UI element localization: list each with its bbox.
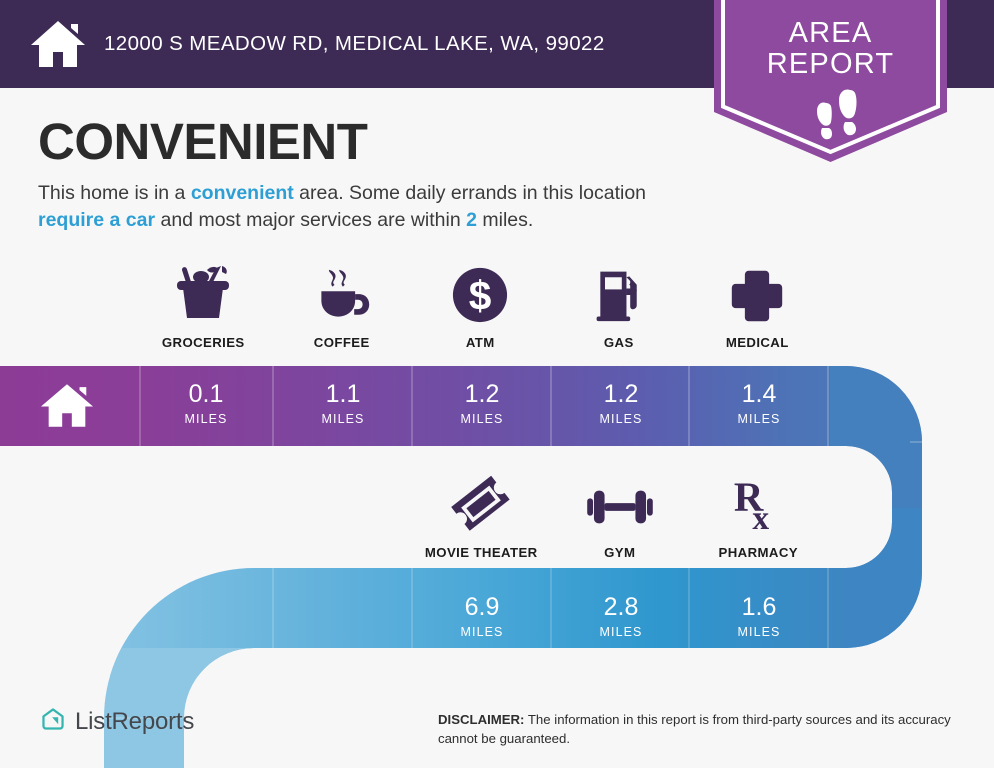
dumbbell-icon — [585, 472, 655, 534]
page-title: CONVENIENT — [38, 112, 367, 171]
svg-text:$: $ — [469, 273, 492, 319]
medical-cross-icon — [729, 262, 785, 324]
distance-value-groceries: 0.1 MILES — [138, 382, 274, 426]
category-gym: GYM — [551, 472, 690, 560]
listreports-house-tag-icon — [40, 706, 66, 737]
disclaimer: DISCLAIMER: The information in this repo… — [438, 711, 978, 748]
desc-text-1: This home is in a — [38, 182, 191, 204]
distance-value-atm: 1.2 MILES — [414, 382, 550, 426]
coffee-cup-icon — [312, 262, 372, 324]
listreports-wordmark: ListReports — [75, 708, 194, 736]
category-label: MEDICAL — [726, 335, 789, 350]
listreports-logo: ListReports — [40, 706, 194, 737]
distance-number: 0.1 — [138, 382, 274, 407]
distance-unit: MILES — [138, 412, 274, 426]
distance-unit: MILES — [691, 412, 827, 426]
distance-unit: MILES — [553, 412, 689, 426]
dollar-circle-icon: $ — [451, 262, 509, 324]
distance-value-gas: 1.2 MILES — [553, 382, 689, 426]
category-label: ATM — [466, 335, 495, 350]
category-icon-row-primary: GROCERIES COFFEE $ ATM — [134, 262, 827, 350]
category-groceries: GROCERIES — [134, 262, 273, 350]
category-label: GROCERIES — [162, 335, 245, 350]
category-pharmacy: R x PHARMACY — [689, 472, 828, 560]
distance-unit: MILES — [414, 625, 550, 639]
distance-number: 1.2 — [414, 382, 550, 407]
gas-pump-icon — [591, 262, 647, 324]
distance-unit: MILES — [414, 412, 550, 426]
distance-unit: MILES — [275, 412, 411, 426]
desc-text-3: and most major services are within — [155, 209, 466, 231]
distance-number: 1.1 — [275, 382, 411, 407]
desc-text-2: area. Some daily errands in this locatio… — [294, 182, 646, 204]
home-icon — [30, 18, 86, 70]
distance-number: 1.4 — [691, 382, 827, 407]
category-label: PHARMACY — [719, 545, 798, 560]
home-icon — [40, 382, 94, 434]
distance-value-gym: 2.8 MILES — [553, 595, 689, 639]
distance-value-coffee: 1.1 MILES — [275, 382, 411, 426]
category-atm: $ ATM — [411, 262, 550, 350]
distance-unit: MILES — [553, 625, 689, 639]
category-label: COFFEE — [314, 335, 370, 350]
distance-unit: MILES — [691, 625, 827, 639]
distance-value-medical: 1.4 MILES — [691, 382, 827, 426]
category-movie-theater: MOVIE THEATER — [412, 472, 551, 560]
desc-highlight-2: require a car — [38, 209, 155, 231]
category-icon-row-secondary: MOVIE THEATER GYM R x PHARMACY — [412, 472, 828, 560]
movie-ticket-icon — [450, 472, 512, 534]
area-report-badge: AREA REPORT — [714, 0, 947, 162]
grocery-basket-icon — [171, 262, 235, 324]
disclaimer-label: DISCLAIMER: — [438, 712, 524, 727]
distance-number: 1.6 — [691, 595, 827, 620]
category-label: MOVIE THEATER — [425, 545, 538, 560]
desc-highlight-3: 2 — [466, 209, 477, 231]
distance-value-pharmacy: 1.6 MILES — [691, 595, 827, 639]
rx-icon: R x — [732, 472, 784, 534]
distance-number: 1.2 — [553, 382, 689, 407]
category-medical: MEDICAL — [688, 262, 827, 350]
distance-number: 6.9 — [414, 595, 550, 620]
distance-number: 2.8 — [553, 595, 689, 620]
svg-text:x: x — [753, 500, 770, 534]
category-label: GYM — [604, 545, 635, 560]
desc-text-4: miles. — [477, 209, 533, 231]
page-description: This home is in a convenient area. Some … — [38, 180, 698, 234]
category-gas: GAS — [550, 262, 689, 350]
property-address: 12000 S MEADOW RD, MEDICAL LAKE, WA, 990… — [104, 32, 605, 56]
category-coffee: COFFEE — [273, 262, 412, 350]
distance-value-movie-theater: 6.9 MILES — [414, 595, 550, 639]
category-label: GAS — [604, 335, 634, 350]
desc-highlight-1: convenient — [191, 182, 294, 204]
